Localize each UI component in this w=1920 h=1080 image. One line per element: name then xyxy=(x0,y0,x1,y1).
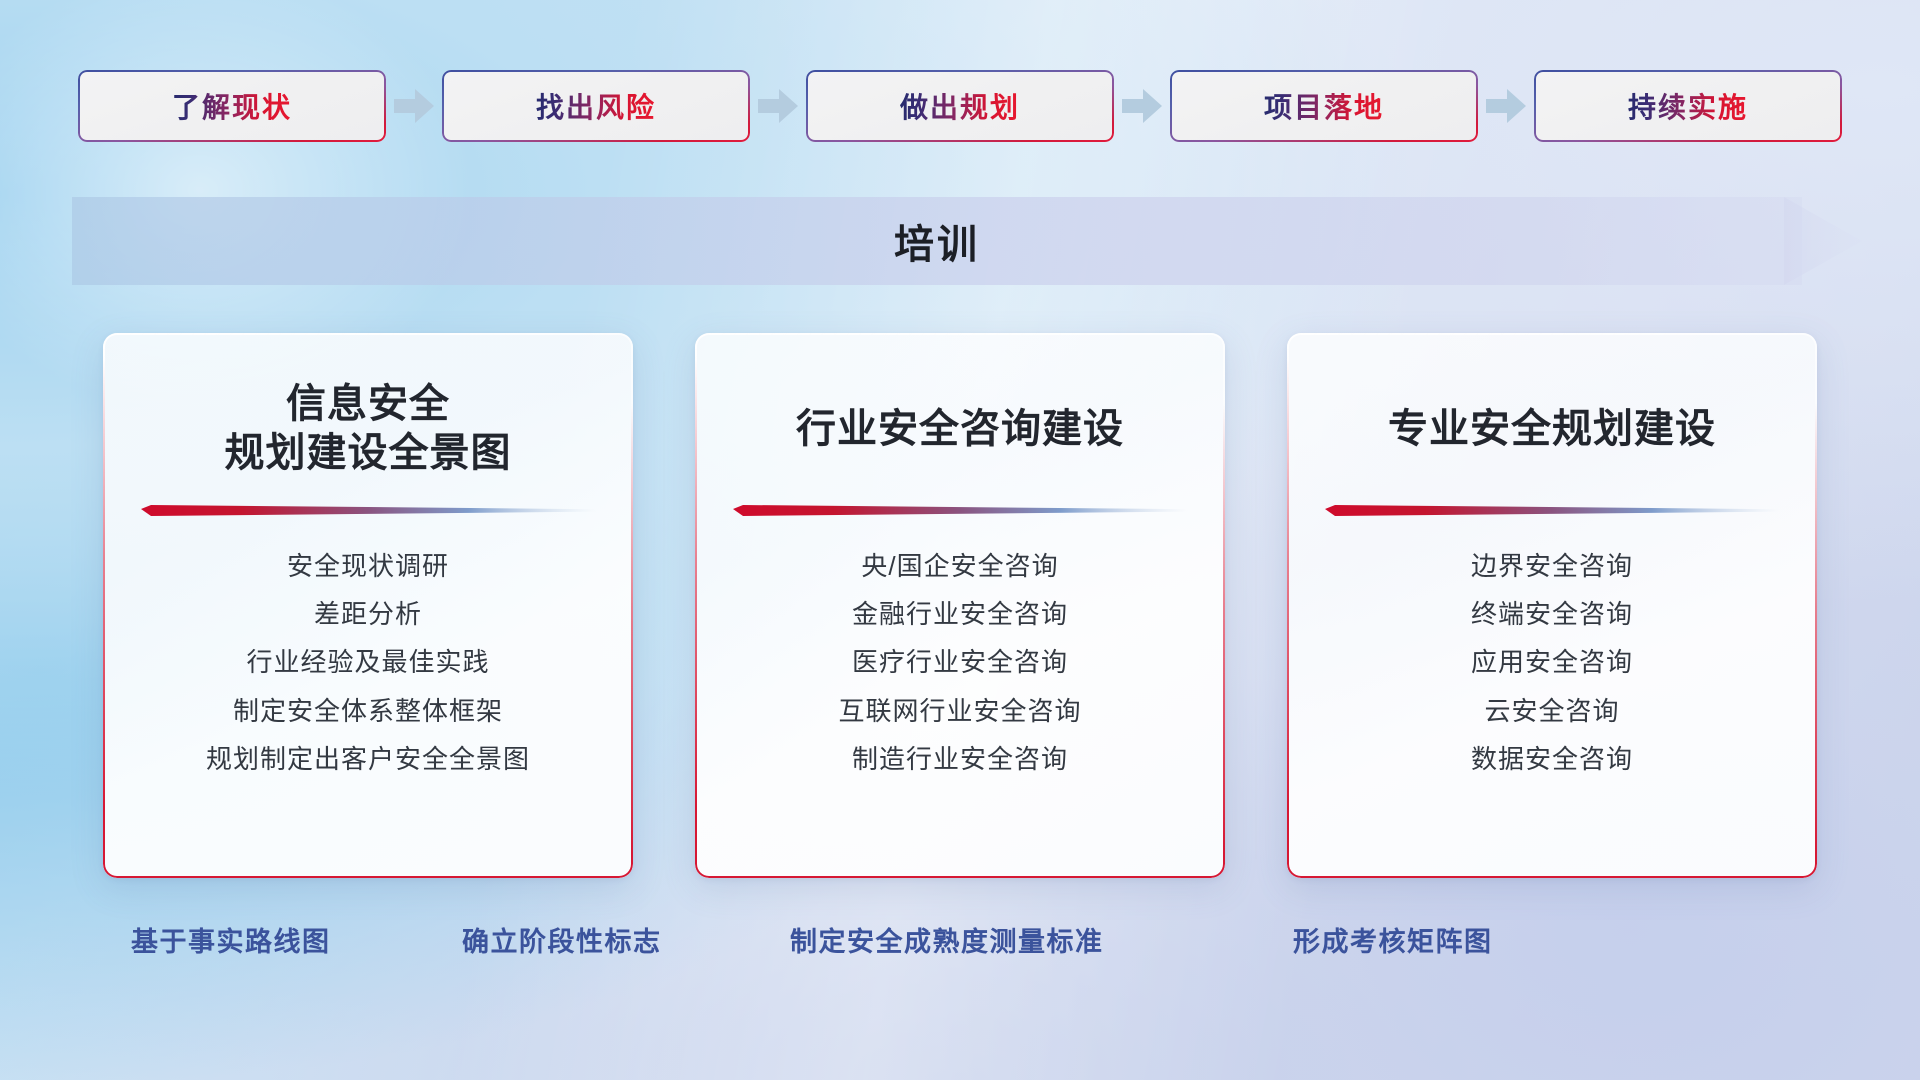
stage-chip-3[interactable]: 做出规划 xyxy=(806,70,1114,142)
list-item: 应用安全咨询 xyxy=(1313,647,1791,678)
right-arrow-icon xyxy=(1478,70,1534,142)
card-professional-security-planning[interactable]: 专业安全规划建设 边界安 xyxy=(1287,333,1817,878)
stage-label: 做出规划 xyxy=(900,86,1020,126)
card-information-security-blueprint[interactable]: 信息安全 规划建设全景图 xyxy=(103,333,633,878)
list-item: 央/国企安全咨询 xyxy=(721,551,1199,582)
right-arrow-icon xyxy=(750,70,806,142)
stage-label: 找出风险 xyxy=(536,86,656,126)
list-item: 终端安全咨询 xyxy=(1313,599,1791,630)
list-item: 制定安全体系整体框架 xyxy=(129,696,607,727)
list-item: 云安全咨询 xyxy=(1313,696,1791,727)
footnote-row: 基于事实路线图 确立阶段性标志 制定安全成熟度测量标准 形成考核矩阵图 xyxy=(0,913,1920,965)
stage-label: 持续实施 xyxy=(1628,86,1748,126)
card-item-list: 边界安全咨询 终端安全咨询 应用安全咨询 云安全咨询 数据安全咨询 xyxy=(1313,551,1791,775)
training-banner: 培训 xyxy=(72,197,1862,285)
stage-chip-4[interactable]: 项目落地 xyxy=(1170,70,1478,142)
card-title-line: 规划建设全景图 xyxy=(129,429,607,478)
list-item: 边界安全咨询 xyxy=(1313,551,1791,582)
card-item-list: 央/国企安全咨询 金融行业安全咨询 医疗行业安全咨询 互联网行业安全咨询 制造行… xyxy=(721,551,1199,775)
right-arrow-icon xyxy=(386,70,442,142)
banner-title: 培训 xyxy=(72,197,1802,285)
cards-row: 信息安全 规划建设全景图 xyxy=(0,333,1920,878)
stage-label: 项目落地 xyxy=(1264,86,1384,126)
list-item: 数据安全咨询 xyxy=(1313,744,1791,775)
card-item-list: 安全现状调研 差距分析 行业经验及最佳实践 制定安全体系整体框架 规划制定出客户… xyxy=(129,551,607,775)
card-accent-rule xyxy=(141,503,596,519)
card-title-line: 信息安全 xyxy=(129,380,607,429)
card-title-line: 行业安全咨询建设 xyxy=(721,405,1199,454)
list-item: 差距分析 xyxy=(129,599,607,630)
footnote-label: 基于事实路线图 xyxy=(131,913,331,965)
list-item: 互联网行业安全咨询 xyxy=(721,696,1199,727)
footnote-label: 确立阶段性标志 xyxy=(462,913,662,965)
stage-chip-1[interactable]: 了解现状 xyxy=(78,70,386,142)
card-accent-rule xyxy=(733,503,1188,519)
list-item: 规划制定出客户安全全景图 xyxy=(129,744,607,775)
stage-flow: 了解现状 找出风险 做出规划 项目落地 持续实施 xyxy=(0,68,1920,143)
footnote-label: 形成考核矩阵图 xyxy=(1293,913,1493,965)
card-title-line: 专业安全规划建设 xyxy=(1313,405,1791,454)
card-industry-security-consulting[interactable]: 行业安全咨询建设 央/国 xyxy=(695,333,1225,878)
stage-chip-2[interactable]: 找出风险 xyxy=(442,70,750,142)
list-item: 医疗行业安全咨询 xyxy=(721,647,1199,678)
stage-chip-5[interactable]: 持续实施 xyxy=(1534,70,1842,142)
list-item: 金融行业安全咨询 xyxy=(721,599,1199,630)
footnote-label: 制定安全成熟度测量标准 xyxy=(790,913,1104,965)
list-item: 行业经验及最佳实践 xyxy=(129,647,607,678)
card-title: 专业安全规划建设 xyxy=(1313,377,1791,481)
card-title: 信息安全 规划建设全景图 xyxy=(129,377,607,481)
card-title: 行业安全咨询建设 xyxy=(721,377,1199,481)
right-arrow-icon xyxy=(1114,70,1170,142)
list-item: 制造行业安全咨询 xyxy=(721,744,1199,775)
stage-label: 了解现状 xyxy=(172,86,292,126)
card-accent-rule xyxy=(1325,503,1780,519)
list-item: 安全现状调研 xyxy=(129,551,607,582)
